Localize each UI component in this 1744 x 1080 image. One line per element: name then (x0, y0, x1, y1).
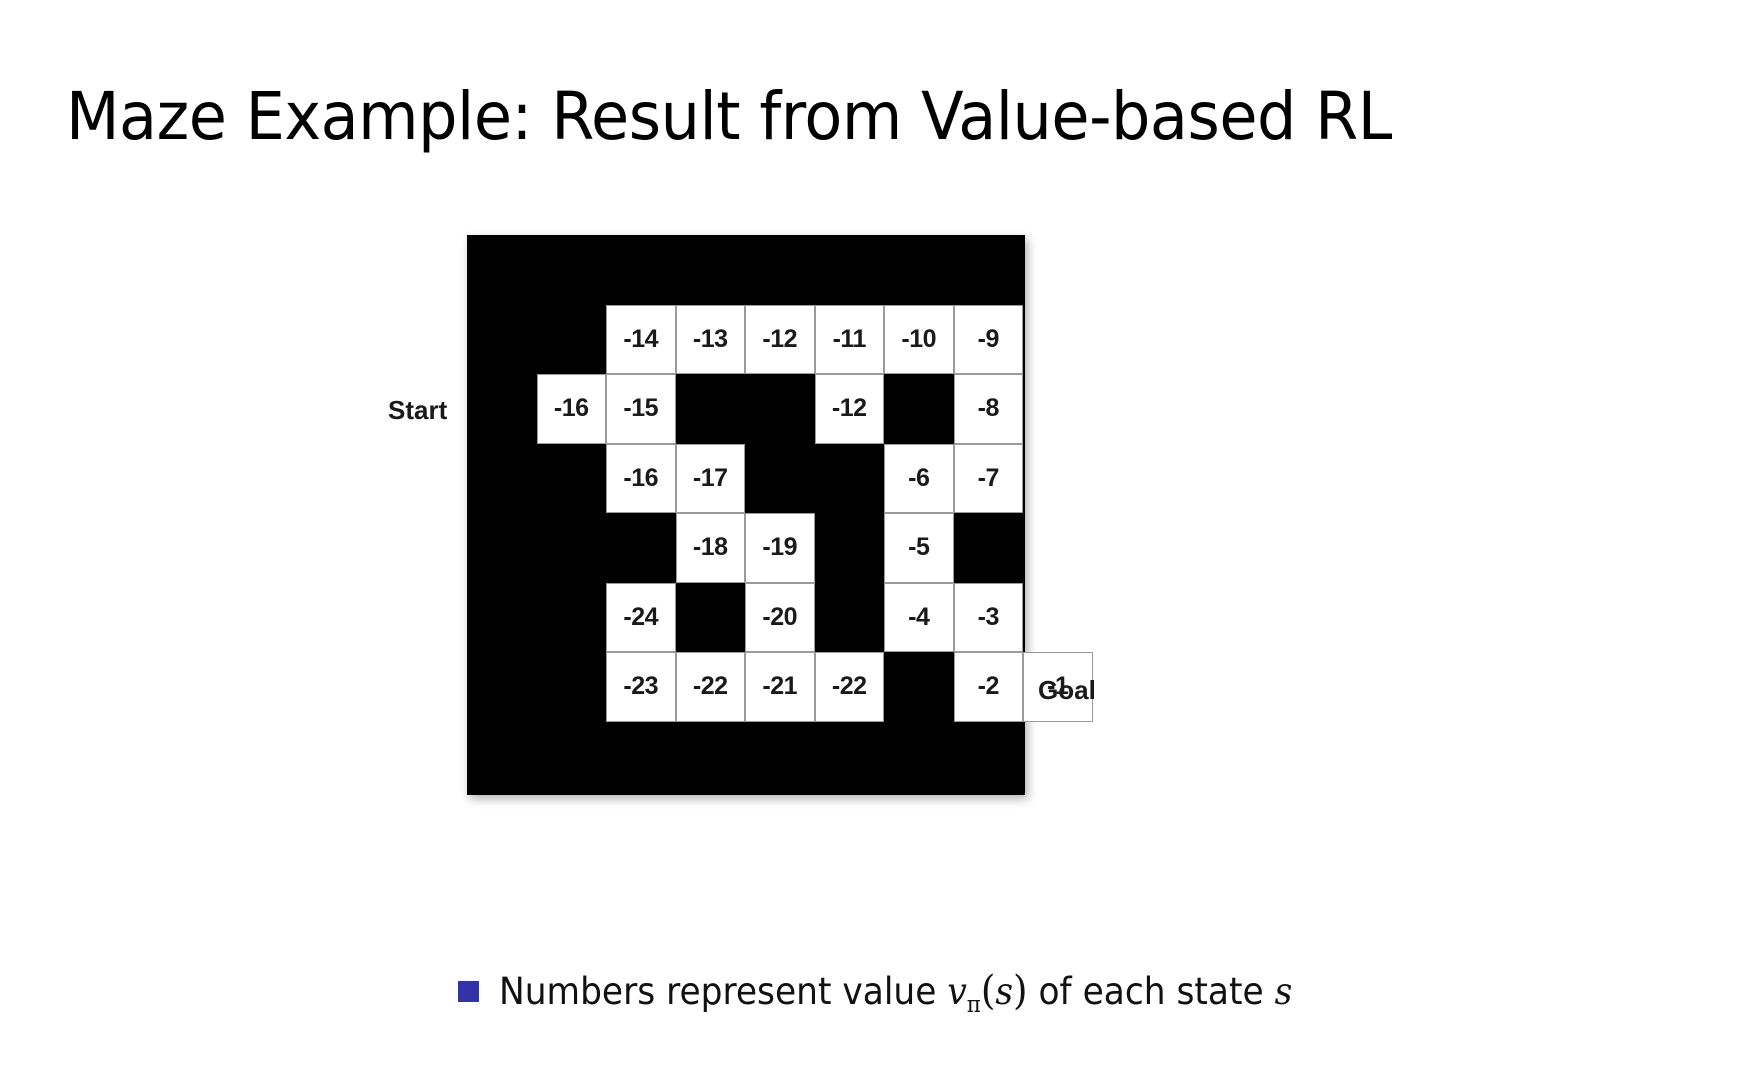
maze-cell: -8 (954, 374, 1024, 444)
maze-cell: -20 (745, 583, 815, 653)
maze-cell: -11 (815, 305, 885, 375)
math-arg-s: s (995, 970, 1013, 1013)
maze-cell: -9 (954, 305, 1024, 375)
maze-cell: -16 (537, 374, 607, 444)
maze-cell: -7 (954, 444, 1024, 514)
maze-cell: -3 (954, 583, 1024, 653)
caption-text: Numbers represent value vπ(s) of each st… (499, 968, 1292, 1014)
maze-cell: -12 (815, 374, 885, 444)
maze-cell: -5 (884, 513, 954, 583)
bullet-square-icon (458, 981, 479, 1002)
math-symbol-v: v (947, 970, 966, 1013)
maze-cell: -22 (815, 652, 885, 722)
maze-cell: -23 (606, 652, 676, 722)
maze-cell: -13 (676, 305, 746, 375)
maze-cell: -2 (954, 652, 1024, 722)
maze-cell: -4 (884, 583, 954, 653)
math-close-paren: ) (1013, 968, 1028, 1014)
maze-cell: -15 (606, 374, 676, 444)
maze-cell: -14 (606, 305, 676, 375)
maze-cell: -18 (676, 513, 746, 583)
page-title: Maze Example: Result from Value-based RL (66, 78, 1392, 155)
maze-cell: -12 (745, 305, 815, 375)
maze-cell: -6 (884, 444, 954, 514)
start-label: Start (388, 395, 447, 426)
maze-figure: -14-13-12-11-10-9-16-15-12-8-16-17-6-7-1… (467, 235, 1025, 795)
caption: Numbers represent value vπ(s) of each st… (458, 968, 1352, 1014)
maze-cell: -17 (676, 444, 746, 514)
math-state-s: s (1275, 970, 1293, 1013)
math-subscript-pi: π (967, 992, 981, 1018)
maze-cell: -10 (884, 305, 954, 375)
caption-text-before: Numbers represent value (499, 970, 947, 1013)
goal-label: Goal (1038, 675, 1096, 706)
math-open-paren: ( (981, 968, 996, 1014)
maze-cell: -21 (745, 652, 815, 722)
caption-text-after: of each state (1028, 970, 1275, 1013)
maze-cell: -19 (745, 513, 815, 583)
maze-cell: -24 (606, 583, 676, 653)
maze-cell: -22 (676, 652, 746, 722)
maze-cell: -16 (606, 444, 676, 514)
